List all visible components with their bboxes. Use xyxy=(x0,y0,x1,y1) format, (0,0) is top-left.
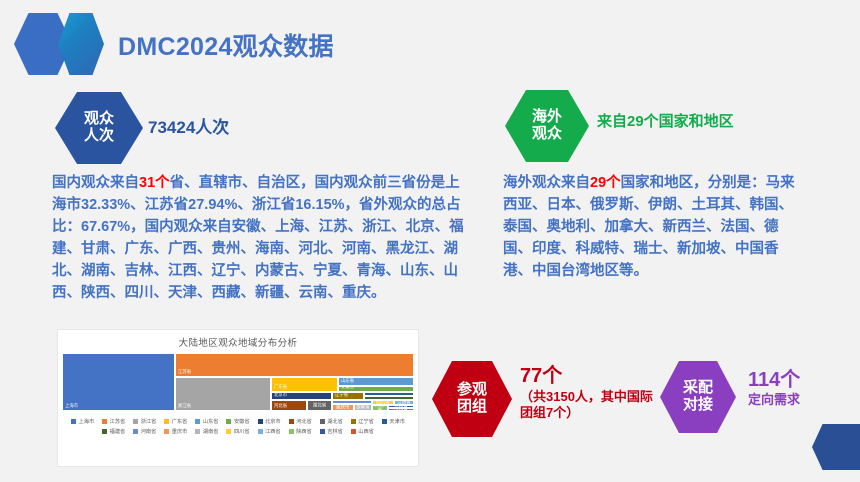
legend-item: 湖南省 xyxy=(195,428,218,435)
treemap-tile: 辽宁省 xyxy=(332,392,364,400)
treemap-tile: 山东省 xyxy=(338,377,414,386)
overseas-headline: 来自29个国家和地区 xyxy=(597,110,734,131)
legend-item: 浙江省 xyxy=(133,418,156,425)
legend-item: 山东省 xyxy=(195,418,218,425)
legend-swatch xyxy=(164,429,169,434)
legend-label: 四川省 xyxy=(234,428,250,435)
legend-swatch xyxy=(289,429,294,434)
groups-stat: 77个 （共3150人，其中国际团组7个） xyxy=(520,366,653,421)
domestic-headline: 73424人次 xyxy=(148,113,229,138)
legend-swatch xyxy=(226,419,231,424)
treemap-tile-label: 陕西省 xyxy=(373,405,387,411)
legend-swatch xyxy=(195,429,200,434)
legend-swatch xyxy=(133,429,138,434)
matching-subtext: 定向需求 xyxy=(748,392,800,408)
logo-hex-image xyxy=(58,13,104,75)
legend-label: 山西省 xyxy=(358,428,374,435)
treemap-tile-label: 湖南省 xyxy=(355,405,371,410)
legend-item: 四川省 xyxy=(226,428,249,435)
legend-label: 江苏省 xyxy=(110,418,126,425)
legend-swatch xyxy=(164,419,169,424)
treemap-tile-label: 北京市 xyxy=(274,393,287,399)
badge-procurement-matching: 采配对接 xyxy=(660,361,736,433)
legend-item: 北京市 xyxy=(258,418,281,425)
treemap-tile-label: 湖北省 xyxy=(308,403,331,408)
overseas-text-1: 海外观众来自 xyxy=(503,175,590,191)
legend-label: 江西省 xyxy=(265,428,281,435)
badge-overseas-label: 海外观众 xyxy=(532,109,562,143)
domestic-text-1: 国内观众来自 xyxy=(52,175,139,191)
treemap-tile: 湖南省 xyxy=(354,404,372,411)
badge-matching-label: 采配对接 xyxy=(683,380,713,414)
treemap-tile: 山西省 xyxy=(388,408,414,411)
badge-domestic-label: 观众人次 xyxy=(84,111,114,145)
legend-item: 江苏省 xyxy=(102,418,125,425)
treemap-tile: 江苏省 xyxy=(175,353,414,377)
legend-swatch xyxy=(289,419,294,424)
legend-label: 福建省 xyxy=(110,428,126,435)
corner-accent-shape xyxy=(812,424,860,470)
legend-swatch xyxy=(351,429,356,434)
badge-domestic-audience: 观众人次 xyxy=(55,92,143,164)
page-title: DMC2024观众数据 xyxy=(118,27,334,63)
legend-item: 福建省 xyxy=(102,428,125,435)
treemap-plot-area: 上海市江苏省浙江省广东省山东省安徽省北京市河北省湖北省辽宁省天津市福建省河南省重… xyxy=(62,353,414,411)
legend-item: 湖北省 xyxy=(320,418,343,425)
legend-label: 陕西省 xyxy=(296,428,312,435)
overseas-highlight: 29个 xyxy=(590,175,621,191)
legend-item: 山西省 xyxy=(351,428,374,435)
legend-label: 广东省 xyxy=(172,418,188,425)
legend-item: 陕西省 xyxy=(289,428,312,435)
chart-title: 大陆地区观众地域分布分析 xyxy=(58,330,418,349)
legend-swatch xyxy=(320,419,325,424)
legend-swatch xyxy=(102,419,107,424)
treemap-chart-card: 大陆地区观众地域分布分析 上海市江苏省浙江省广东省山东省安徽省北京市河北省湖北省… xyxy=(58,330,418,466)
legend-swatch xyxy=(320,429,325,434)
hexagon-logo xyxy=(14,13,104,75)
treemap-tile-label: 山西省 xyxy=(389,408,413,411)
legend-swatch xyxy=(351,419,356,424)
treemap-tile-label: 广东省 xyxy=(274,385,287,391)
badge-visiting-groups: 参观团组 xyxy=(432,361,512,437)
badge-overseas-audience: 海外观众 xyxy=(505,90,589,162)
chart-legend: 上海市江苏省浙江省广东省山东省安徽省北京市河北省湖北省辽宁省天津市福建省河南省重… xyxy=(66,416,410,436)
treemap-tile: 上海市 xyxy=(62,353,175,411)
treemap-tile: 重庆市 xyxy=(332,404,354,411)
treemap-tile: 陕西省 xyxy=(372,405,388,411)
legend-label: 安徽省 xyxy=(234,418,250,425)
legend-item: 安徽省 xyxy=(226,418,249,425)
slide-canvas: DMC2024观众数据 观众人次 73424人次 国内观众来自31个省、直辖市、… xyxy=(0,0,860,482)
legend-item: 江西省 xyxy=(258,428,281,435)
legend-label: 河北省 xyxy=(296,418,312,425)
treemap-tile: 湖北省 xyxy=(307,400,332,411)
treemap-tile-label: 天津市 xyxy=(367,392,380,394)
domestic-paragraph: 国内观众来自31个省、直辖市、自治区，国内观众前三省份是上海市32.33%、江苏… xyxy=(52,172,464,304)
legend-label: 北京市 xyxy=(265,418,281,425)
treemap-tile-label: 上海市 xyxy=(65,403,78,409)
legend-label: 浙江省 xyxy=(141,418,157,425)
treemap-tile-label: 山东省 xyxy=(341,378,354,384)
legend-label: 湖南省 xyxy=(203,428,219,435)
overseas-paragraph: 海外观众来自29个国家和地区，分别是：马来西亚、日本、俄罗斯、伊朗、土耳其、韩国… xyxy=(503,172,803,282)
legend-item: 广东省 xyxy=(164,418,187,425)
badge-groups-label: 参观团组 xyxy=(457,382,487,416)
legend-swatch xyxy=(71,419,76,424)
legend-swatch xyxy=(258,419,263,424)
legend-label: 上海市 xyxy=(79,418,95,425)
legend-item: 河北省 xyxy=(289,418,312,425)
domestic-highlight: 31个 xyxy=(139,175,170,191)
legend-swatch xyxy=(382,419,387,424)
treemap-tile: 河北省 xyxy=(271,400,307,411)
legend-item: 河南省 xyxy=(133,428,156,435)
legend-item: 天津市 xyxy=(382,418,405,425)
treemap-tile: 北京市 xyxy=(271,392,332,400)
matching-stat: 114个 定向需求 xyxy=(748,370,800,408)
treemap-tile: 安徽省 xyxy=(338,386,414,393)
legend-swatch xyxy=(102,429,107,434)
legend-label: 吉林省 xyxy=(327,428,343,435)
matching-number: 114个 xyxy=(748,370,800,391)
treemap-tile-label: 河南省 xyxy=(335,400,348,402)
treemap-tile-label: 辽宁省 xyxy=(335,392,348,398)
treemap-tile-label: 福建省 xyxy=(367,396,380,398)
legend-item: 吉林省 xyxy=(320,428,343,435)
legend-swatch xyxy=(195,419,200,424)
legend-swatch xyxy=(133,419,138,424)
legend-label: 重庆市 xyxy=(172,428,188,435)
treemap-tile: 广东省 xyxy=(271,377,338,393)
legend-label: 天津市 xyxy=(389,418,405,425)
domestic-text-2: 省、直辖市、自治区，国内观众前三省份是上海市32.33%、江苏省27.94%、浙… xyxy=(52,175,464,301)
legend-item: 上海市 xyxy=(71,418,94,425)
legend-item: 重庆市 xyxy=(164,428,187,435)
legend-swatch xyxy=(258,429,263,434)
legend-label: 湖北省 xyxy=(327,418,343,425)
groups-subtext: （共3150人，其中国际团组7个） xyxy=(520,389,653,421)
treemap-tile-label: 重庆市 xyxy=(333,405,353,410)
treemap-tile-label: 浙江省 xyxy=(178,403,191,409)
legend-item: 辽宁省 xyxy=(351,418,374,425)
legend-label: 辽宁省 xyxy=(358,418,374,425)
treemap-tile-label: 江苏省 xyxy=(178,369,191,375)
treemap-tile-label: 安徽省 xyxy=(341,386,354,391)
legend-label: 河南省 xyxy=(141,428,157,435)
treemap-tile-label: 河北省 xyxy=(274,403,287,409)
groups-number: 77个 xyxy=(520,366,653,387)
treemap-tile: 浙江省 xyxy=(175,377,271,411)
legend-swatch xyxy=(226,429,231,434)
legend-label: 山东省 xyxy=(203,418,219,425)
